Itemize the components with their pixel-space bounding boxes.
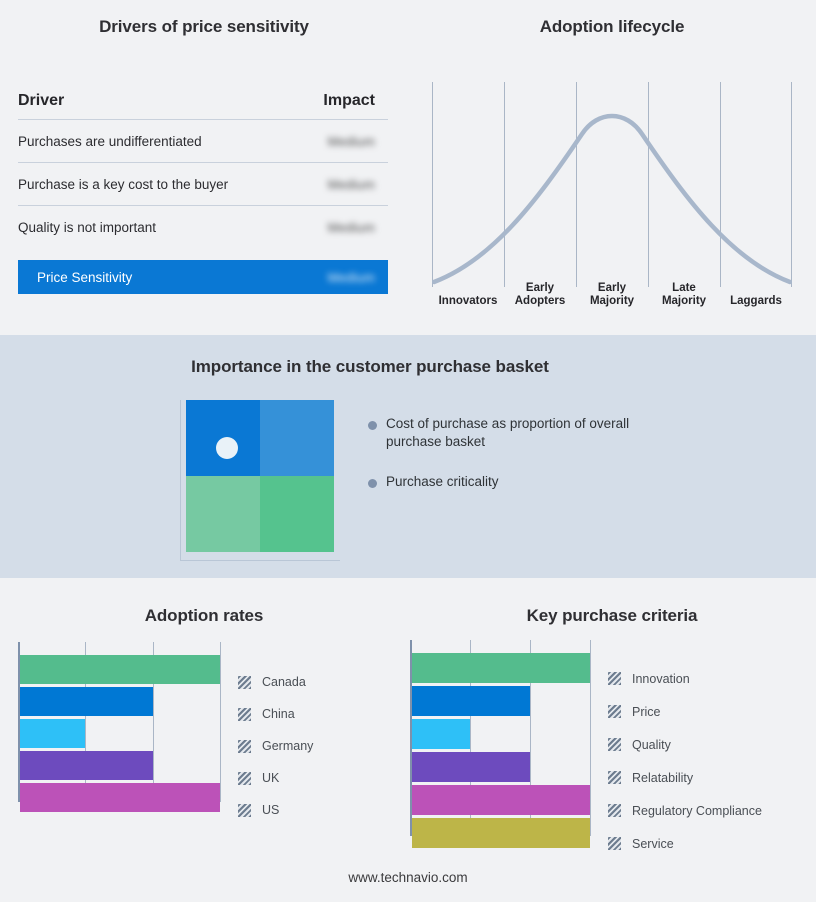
bar-germany: [20, 719, 85, 748]
bar-group: [20, 642, 222, 802]
importance-matrix-chart: [180, 400, 340, 565]
list-item: Service: [608, 827, 762, 860]
stage-line-2: Laggards: [730, 295, 782, 308]
bar-canada: [20, 655, 220, 684]
list-item: Price: [608, 695, 762, 728]
summary-label: Price Sensitivity: [37, 270, 132, 285]
legend-label: Regulatory Compliance: [632, 804, 762, 818]
drivers-title: Drivers of price sensitivity: [0, 17, 408, 37]
lifecycle-stage-early-adopters: Early Adopters: [504, 258, 576, 310]
bullet-icon: [368, 479, 377, 488]
legend-swatch-icon: [238, 740, 251, 753]
bar-price: [412, 686, 530, 716]
legend-swatch-icon: [238, 772, 251, 785]
legend-label: Service: [632, 837, 674, 851]
key-purchase-criteria-title: Key purchase criteria: [408, 606, 816, 626]
stage-line-2: Innovators: [439, 295, 498, 308]
bar-group: [412, 640, 594, 836]
adoption-lifecycle-panel: Adoption lifecycle Innovators Early Adop…: [408, 0, 816, 335]
legend-swatch-icon: [238, 708, 251, 721]
list-item: Relatability: [608, 761, 762, 794]
stage-line-1: Early: [598, 282, 626, 295]
lifecycle-stage-early-majority: Early Majority: [576, 258, 648, 310]
drivers-table-header: Driver Impact: [18, 92, 388, 119]
quadrant-matrix: [186, 400, 334, 552]
adoption-rates-chart: [18, 642, 222, 802]
legend-label: US: [262, 803, 279, 817]
bar-china: [20, 687, 153, 716]
adoption-rates-panel: Adoption rates Canada China Germany: [0, 578, 408, 902]
legend-label: Purchase criticality: [386, 473, 499, 491]
matrix-x-axis: [180, 560, 340, 561]
key-purchase-criteria-chart: [410, 640, 594, 836]
key-purchase-criteria-legend: Innovation Price Quality Relatability Re…: [608, 662, 762, 860]
legend-label: Innovation: [632, 672, 690, 686]
impact-value-redacted: Medium: [328, 220, 375, 235]
importance-panel: Importance in the customer purchase bask…: [0, 335, 816, 578]
table-row: Quality is not important Medium: [18, 205, 388, 248]
legend-label: Germany: [262, 739, 313, 753]
key-purchase-criteria-panel: Key purchase criteria Innovation Price: [408, 578, 816, 902]
legend-swatch-icon: [238, 676, 251, 689]
drivers-table: Driver Impact Purchases are undifferenti…: [18, 92, 388, 294]
adoption-rates-title: Adoption rates: [0, 606, 408, 626]
stage-line-1: Late: [672, 282, 696, 295]
quadrant-top-right: [260, 400, 334, 476]
list-item: Germany: [238, 730, 313, 762]
list-item: Cost of purchase as proportion of overal…: [368, 415, 698, 451]
quadrant-bottom-right: [260, 476, 334, 552]
legend-swatch-icon: [608, 837, 621, 850]
adoption-lifecycle-chart: Innovators Early Adopters Early Majority…: [432, 82, 792, 310]
driver-label: Purchases are undifferentiated: [18, 134, 202, 149]
bar-us: [20, 783, 220, 812]
legend-swatch-icon: [608, 804, 621, 817]
lifecycle-stage-laggards: Laggards: [720, 258, 792, 310]
price-sensitivity-summary-row: Price Sensitivity Medium: [18, 260, 388, 294]
quadrant-top-left: [186, 400, 260, 476]
legend-label: Price: [632, 705, 660, 719]
adoption-lifecycle-title: Adoption lifecycle: [408, 17, 816, 37]
position-marker-dot: [216, 437, 238, 459]
list-item: Innovation: [608, 662, 762, 695]
legend-swatch-icon: [608, 738, 621, 751]
list-item: China: [238, 698, 313, 730]
column-header-driver: Driver: [18, 92, 64, 110]
adoption-rates-legend: Canada China Germany UK US: [238, 666, 313, 826]
bar-innovation: [412, 653, 590, 683]
driver-label: Purchase is a key cost to the buyer: [18, 177, 228, 192]
drivers-panel: Drivers of price sensitivity Driver Impa…: [0, 0, 408, 335]
list-item: UK: [238, 762, 313, 794]
impact-value-redacted: Medium: [328, 177, 375, 192]
legend-label: Canada: [262, 675, 306, 689]
legend-swatch-icon: [608, 705, 621, 718]
list-item: US: [238, 794, 313, 826]
matrix-y-axis: [180, 400, 181, 560]
bar-service: [412, 818, 590, 848]
lifecycle-stage-late-majority: Late Majority: [648, 258, 720, 310]
quadrant-bottom-left: [186, 476, 260, 552]
stage-line-2: Majority: [590, 295, 634, 308]
list-item: Regulatory Compliance: [608, 794, 762, 827]
legend-label: China: [262, 707, 295, 721]
bar-regulatory-compliance: [412, 785, 590, 815]
stage-line-2: Adopters: [515, 295, 565, 308]
bell-curve-line: [432, 82, 792, 287]
legend-label: UK: [262, 771, 279, 785]
lifecycle-stage-innovators: Innovators: [432, 258, 504, 310]
legend-swatch-icon: [608, 771, 621, 784]
impact-value-redacted: Medium: [328, 134, 375, 149]
bar-uk: [20, 751, 153, 780]
list-item: Purchase criticality: [368, 473, 698, 491]
summary-impact-redacted: Medium: [328, 270, 375, 285]
bar-relatability: [412, 752, 530, 782]
importance-title: Importance in the customer purchase bask…: [0, 357, 740, 377]
legend-swatch-icon: [238, 804, 251, 817]
legend-label: Quality: [632, 738, 671, 752]
bar-quality: [412, 719, 470, 749]
importance-legend: Cost of purchase as proportion of overal…: [368, 415, 698, 513]
table-row: Purchases are undifferentiated Medium: [18, 119, 388, 162]
list-item: Canada: [238, 666, 313, 698]
column-header-impact: Impact: [323, 92, 375, 110]
legend-label: Relatability: [632, 771, 693, 785]
list-item: Quality: [608, 728, 762, 761]
stage-line-1: Early: [526, 282, 554, 295]
bullet-icon: [368, 421, 377, 430]
legend-swatch-icon: [608, 672, 621, 685]
stage-line-2: Majority: [662, 295, 706, 308]
legend-label: Cost of purchase as proportion of overal…: [386, 415, 641, 451]
lifecycle-stage-labels: Innovators Early Adopters Early Majority…: [432, 258, 792, 310]
driver-label: Quality is not important: [18, 220, 156, 235]
table-row: Purchase is a key cost to the buyer Medi…: [18, 162, 388, 205]
footer-url: www.technavio.com: [0, 870, 816, 885]
